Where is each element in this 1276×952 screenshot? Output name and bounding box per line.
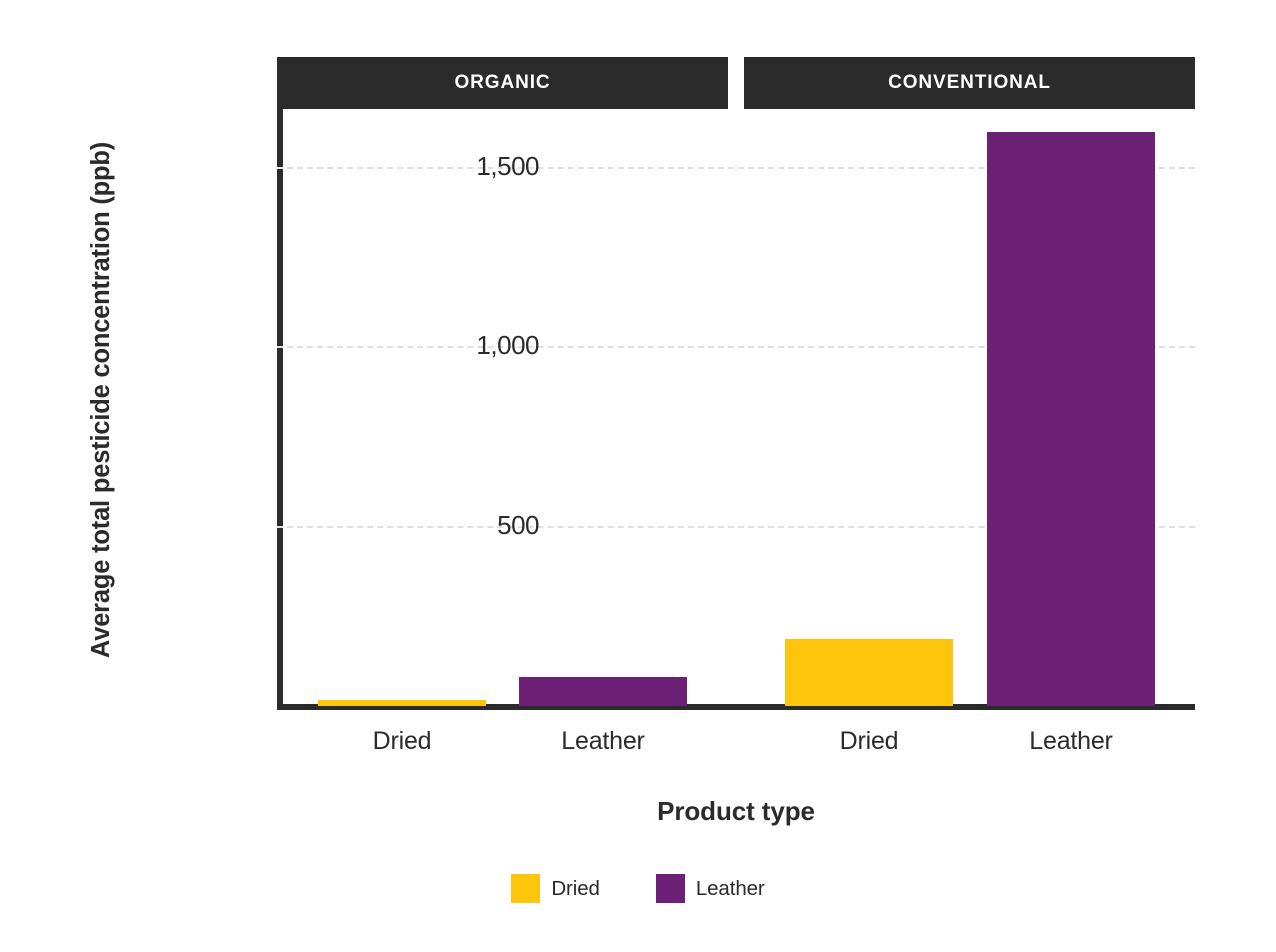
y-tick-label-1000: 1,000 bbox=[424, 330, 539, 361]
legend-swatch-leather-icon bbox=[656, 874, 685, 903]
panel-header-conventional-label: CONVENTIONAL bbox=[888, 72, 1051, 94]
legend-item-dried[interactable]: Dried bbox=[511, 874, 600, 903]
x-tick-label-conventional-leather: Leather bbox=[987, 727, 1155, 756]
legend: Dried Leather bbox=[0, 874, 1276, 903]
panel-header-organic: ORGANIC bbox=[277, 57, 728, 109]
y-axis-title-text: Average total pesticide concentration (p… bbox=[78, 70, 124, 730]
x-tick-label-conventional-dried: Dried bbox=[785, 727, 953, 756]
legend-swatch-dried-icon bbox=[511, 874, 540, 903]
bar-chart: Average total pesticide concentration (p… bbox=[0, 0, 1276, 952]
panel-header-conventional: CONVENTIONAL bbox=[744, 57, 1195, 109]
bar-conventional-leather[interactable] bbox=[987, 132, 1155, 706]
legend-item-leather[interactable]: Leather bbox=[656, 874, 765, 903]
legend-label-leather: Leather bbox=[696, 877, 765, 901]
bar-organic-leather[interactable] bbox=[519, 677, 687, 706]
bar-organic-dried[interactable] bbox=[318, 700, 486, 706]
bar-conventional-dried[interactable] bbox=[785, 639, 953, 706]
x-tick-label-organic-dried: Dried bbox=[318, 727, 486, 756]
y-tick-label-500: 500 bbox=[424, 510, 539, 541]
x-axis-title: Product type bbox=[277, 796, 1195, 827]
panel-header-organic-label: ORGANIC bbox=[454, 72, 550, 94]
legend-label-dried: Dried bbox=[551, 877, 600, 901]
x-tick-label-organic-leather: Leather bbox=[519, 727, 687, 756]
y-tick-label-1500: 1,500 bbox=[424, 150, 539, 181]
plot-area: 1,500 1,000 500 bbox=[277, 109, 1195, 706]
